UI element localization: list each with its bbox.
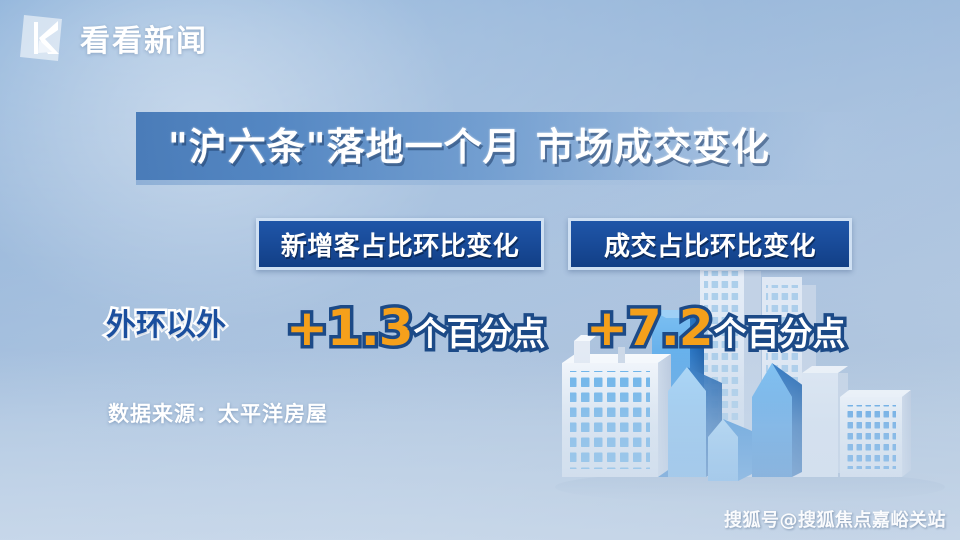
value-unit: 个百分点 [413, 314, 545, 353]
page-title: "沪六条"落地一个月 市场成交变化 [168, 118, 928, 176]
data-source-note: 数据来源：太平洋房屋 [108, 398, 328, 428]
value-new-buyers-change: +1.3个百分点 [286, 303, 545, 353]
brand-logo[interactable]: 看看新闻 [18, 12, 208, 64]
brand-name: 看看新闻 [80, 16, 208, 60]
building-white-grid-right [840, 390, 911, 477]
infographic-canvas: 看看新闻 "沪六条"落地一个月 市场成交变化 新增客占比环比变化 成交占比环比变… [0, 0, 960, 540]
watermark: 搜狐号@搜狐焦点嘉峪关站 [724, 506, 946, 532]
value-number: 1.3 [327, 299, 413, 357]
value-sign: + [286, 299, 327, 357]
column-header-label: 新增客占比环比变化 [281, 226, 520, 263]
value-transactions-change: +7.2个百分点 [586, 303, 845, 353]
value-number: 7.2 [627, 299, 713, 357]
column-header-transactions: 成交占比环比变化 [568, 218, 852, 270]
value-unit: 个百分点 [713, 314, 845, 353]
column-header-label: 成交占比环比变化 [604, 226, 816, 263]
row-label-outer-ring: 外环以外 [106, 300, 226, 344]
city-skyline-illustration [540, 255, 960, 505]
column-header-new-buyers: 新增客占比环比变化 [256, 218, 544, 270]
value-sign: + [586, 299, 627, 357]
kankan-k-logo-icon [18, 12, 68, 64]
